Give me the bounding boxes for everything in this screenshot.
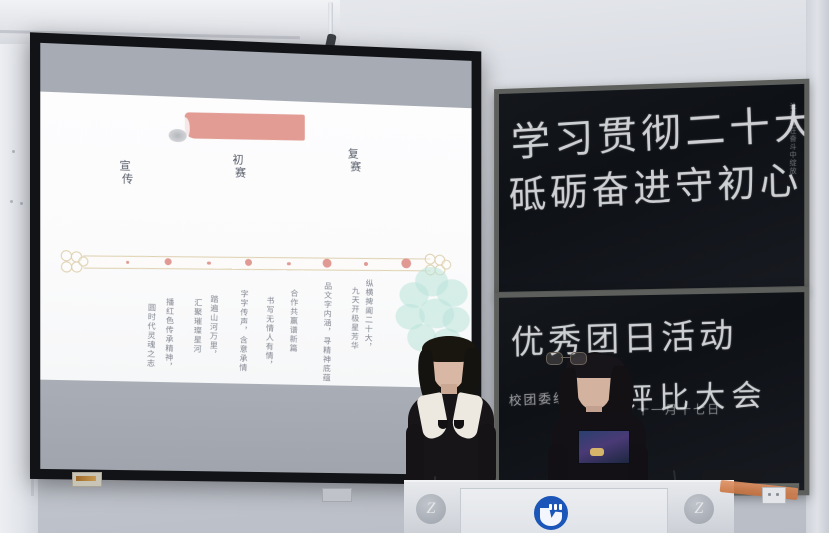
slide-text-column: 播红色传承精神， (164, 298, 175, 373)
timeline-dot (287, 262, 291, 266)
timeline-end-ornament-left (61, 250, 88, 273)
slide-text-column: 书写无情人有情， (264, 296, 275, 366)
stage-label-publicity: 宣 传 (118, 159, 132, 186)
heart-motif-icon (438, 420, 448, 429)
slide-text-column: 踏遍山河万里， (208, 295, 219, 368)
arm-right (478, 424, 496, 486)
university-emblem-icon (534, 496, 568, 530)
slide-text-column: 纵横捭阖二十大， (363, 279, 374, 361)
glasses-icon (546, 352, 586, 363)
slide-title-banner (185, 112, 305, 140)
wall-plate (72, 472, 102, 487)
wall-outlet (762, 487, 786, 504)
slide-text-column: 九天开极星芳华 (350, 286, 361, 362)
upper-blackboard-surface: 学习贯彻二十大 砥砺奋进守初心 让青春在奋斗中绽放 (499, 84, 804, 292)
slide-text-column: 圆时代灵魂之志 (146, 303, 157, 374)
slide-text-column: 品文字内涵，寻精神底蕴 (322, 282, 333, 370)
blackboard-assembly: 学习贯彻二十大 砥砺奋进守初心 让青春在奋斗中绽放 优秀团日活动 评比大会 校团… (494, 79, 809, 491)
right-wall (806, 0, 829, 533)
lower-blackboard: 优秀团日活动 评比大会 校团委组织部 十一月十七日 (494, 287, 809, 497)
timeline-dot (165, 258, 172, 265)
tshirt-graphic (578, 430, 630, 464)
podium-emblem-left-icon: Z (416, 494, 446, 524)
slide-text-column: 字字传声，含意承情 (238, 289, 249, 369)
slide-text-column: 合作共赢谱新篇 (288, 289, 299, 367)
emblem-dots (549, 504, 563, 510)
tshirt-graphic-highlight (590, 448, 604, 456)
stage-label-semifinal: 复 赛 (346, 147, 360, 173)
projector-mount-pole (328, 2, 333, 38)
timeline-dot (207, 261, 211, 265)
wall-plate (322, 488, 352, 502)
slide-text-column: 汇聚璀璨星河 (192, 298, 203, 367)
wall-mark (10, 200, 13, 203)
wall-mark (20, 202, 23, 205)
title-smudge (169, 129, 187, 143)
timeline-bar (83, 255, 431, 271)
upper-blackboard: 学习贯彻二十大 砥砺奋进守初心 让青春在奋斗中绽放 (494, 79, 809, 297)
lecture-podium: Z Z (404, 480, 734, 533)
timeline-dot (323, 259, 332, 268)
lower-blackboard-surface: 优秀团日活动 评比大会 校团委组织部 十一月十七日 (499, 292, 804, 492)
classroom-scene: 宣 传 初 赛 复 赛 (0, 0, 829, 533)
timeline-dot (245, 259, 252, 266)
podium-emblem-right-icon: Z (684, 494, 714, 524)
projection-screen-surface: 宣 传 初 赛 复 赛 (40, 43, 471, 475)
chalk-side-note: 让青春在奋斗中绽放 (788, 102, 798, 175)
timeline-dot (126, 260, 129, 263)
arm-left (406, 424, 424, 486)
wall-mark (12, 150, 15, 153)
stage-label-preliminary: 初 赛 (231, 153, 245, 180)
slide-content: 宣 传 初 赛 复 赛 (40, 92, 471, 389)
timeline-dot (364, 262, 368, 266)
heart-motif-icon (454, 420, 464, 429)
presenter-left (408, 336, 494, 496)
